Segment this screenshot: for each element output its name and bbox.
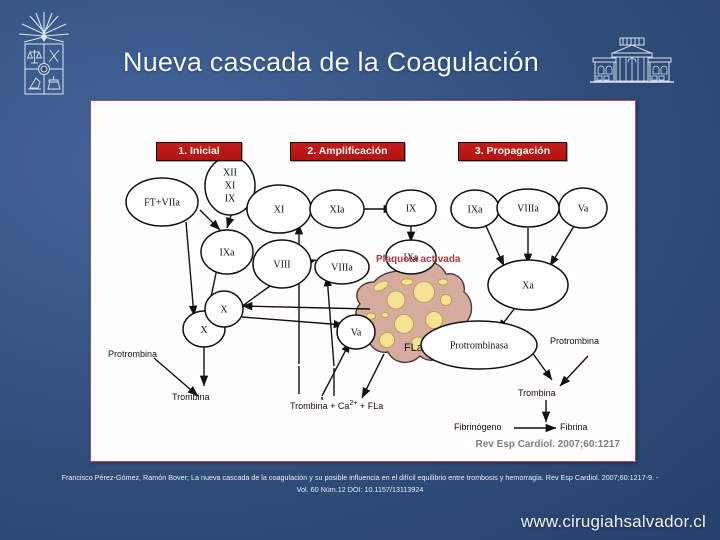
node-xia: XIa [330,204,346,215]
platelet-fla-label: FLa [404,342,423,354]
label-protrombina-right: Protrombina [550,336,599,346]
figure-source-note: Rev Esp Cardiol. 2007;60:1217 [475,439,620,450]
node-ix-stack: IX [225,193,236,204]
node-viii: VIII [273,259,290,270]
node-x: X [220,304,228,315]
phase-banner-amplificacion: 2. Amplificación [290,142,405,161]
node-xa: Xa [522,280,534,291]
node-x-label: X [200,325,208,336]
universidad-de-chile-crest-icon [14,10,74,98]
node-ixa-3: IXa [468,204,484,215]
label-fibrina: Fibrina [560,422,588,432]
hospital-building-icon [585,36,677,88]
platelet-title: Plaqueta activada [376,254,460,265]
node-va-2: Va [578,203,589,214]
figure-inner: FT+VIIa XII XI IX IXa X XI VIII XIa VIII… [94,104,632,458]
label-trombina-left: Trombina [172,392,210,402]
node-viiia: VIIIa [331,262,353,273]
node-ft-viia: FT+VIIa [144,197,180,208]
node-ix-2: IX [406,203,417,214]
label-trombina-ca-fla-text: Trombina + Ca [290,401,349,411]
website-url: www.cirugiahsalvador.cl [521,512,706,532]
label-trombina-right: Trombina [518,388,556,398]
node-viiia-2: VIIIa [517,203,539,214]
label-fla-tail: + FLa [357,401,383,411]
label-trombina-ca-fla: Trombina + Ca2+ + FLa [290,400,383,411]
phase-banner-inicial: 1. Inicial [156,142,242,161]
phase-banner-propagacion: 3. Propagación [458,142,567,161]
page-title: Nueva cascada de la Coagulación [96,40,566,84]
node-xii: XII [223,167,237,178]
label-fibrinogeno: Fibrinógeno [454,422,502,432]
node-protrombinasa: Protrombinasa [450,340,509,351]
coagulation-cascade-figure: FT+VIIa XII XI IX IXa X XI VIII XIa VIII… [90,100,636,462]
citation-text: Francisco Pérez-Gómez, Ramón Bover; La n… [60,472,660,495]
node-va-1: Va [351,327,362,338]
slide-canvas: Nueva cascada de la Coagulación [0,0,720,540]
node-xi-stack: XI [225,180,236,191]
label-protrombina-left: Protrombina [108,349,157,359]
node-xi: XI [274,204,285,215]
node-ixa-1: IXa [220,247,236,258]
